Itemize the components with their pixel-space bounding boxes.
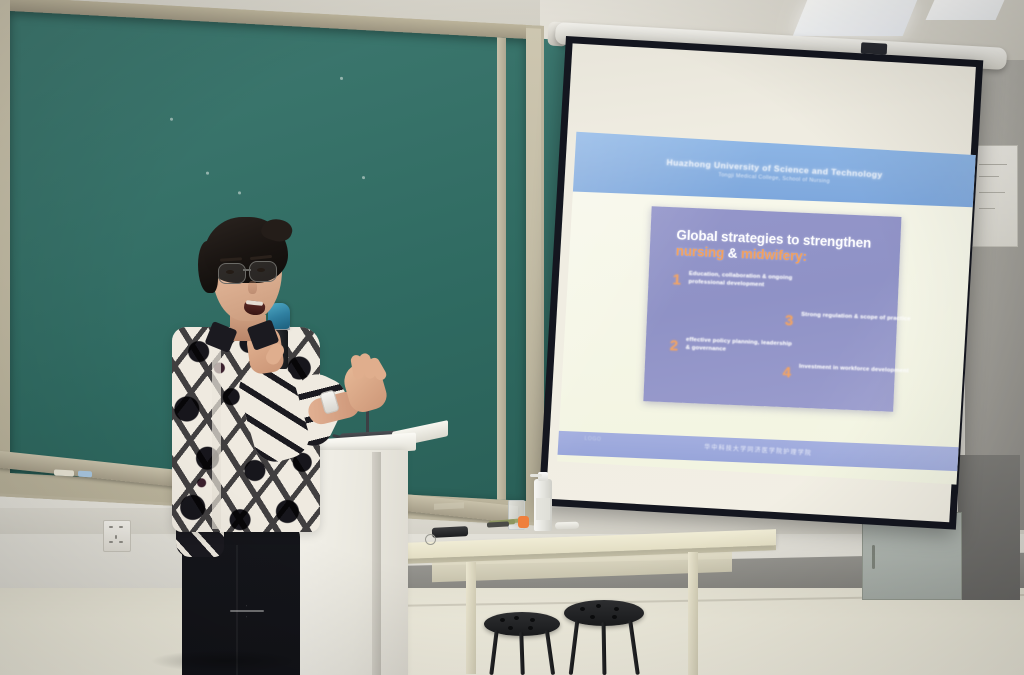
presenter-remote (555, 522, 579, 530)
slide-title-connector: & (727, 246, 737, 261)
scissors-handle (518, 516, 529, 528)
slide-point-4-text: Investment in workforce development (799, 363, 911, 376)
projection-screen: Huazhong University of Science and Techn… (539, 36, 984, 530)
screenshot-root: Huazhong University of Science and Techn… (0, 0, 1024, 675)
chalkboard-divider (497, 37, 506, 499)
presentation-slide: Huazhong University of Science and Techn… (557, 132, 976, 485)
ceiling-light-panel-secondary (926, 0, 1005, 20)
doorway[interactable] (958, 455, 1020, 600)
slide-title: Global strategies to strengthen nursing … (675, 227, 888, 268)
table-leg (688, 552, 698, 675)
slide-point-1-number: 1 (672, 271, 681, 288)
slide-point-3-text: Strong regulation & scope of practice (801, 311, 913, 324)
presenter-nose (248, 281, 257, 294)
slide-point-3-number: 3 (785, 312, 794, 329)
slide-point-1-text: Education, collaboration & ongoing profe… (688, 270, 801, 291)
wall-power-outlet (103, 520, 131, 552)
sanitizer-label (536, 498, 550, 520)
slide-point-2-text: effective policy planning, leadership & … (685, 336, 798, 357)
wall-control-panel[interactable] (972, 145, 1018, 247)
presenter: ·· (150, 215, 380, 675)
eyeglasses-bridge (243, 269, 251, 271)
cabinet-handle[interactable] (872, 545, 875, 569)
key-ring (425, 534, 436, 545)
slide-point-4-number: 4 (782, 364, 791, 381)
shirt-placket (212, 329, 221, 529)
table-leg (466, 562, 476, 674)
ceiling-light-panel (793, 0, 918, 36)
slide-content-card: Global strategies to strengthen nursing … (643, 206, 901, 412)
slide-point-2-number: 2 (669, 337, 678, 354)
presenter-shadow (150, 650, 300, 672)
slide-title-colon: : (802, 249, 807, 264)
sanitizer-nozzle (530, 474, 542, 477)
keys (432, 526, 468, 538)
trousers-logo: ·· (226, 603, 268, 619)
slide-title-highlight-midwifery: midwifery (741, 246, 803, 264)
slide-title-highlight-nursing: nursing (675, 243, 724, 260)
projection-screen-surface: Huazhong University of Science and Techn… (546, 43, 976, 522)
